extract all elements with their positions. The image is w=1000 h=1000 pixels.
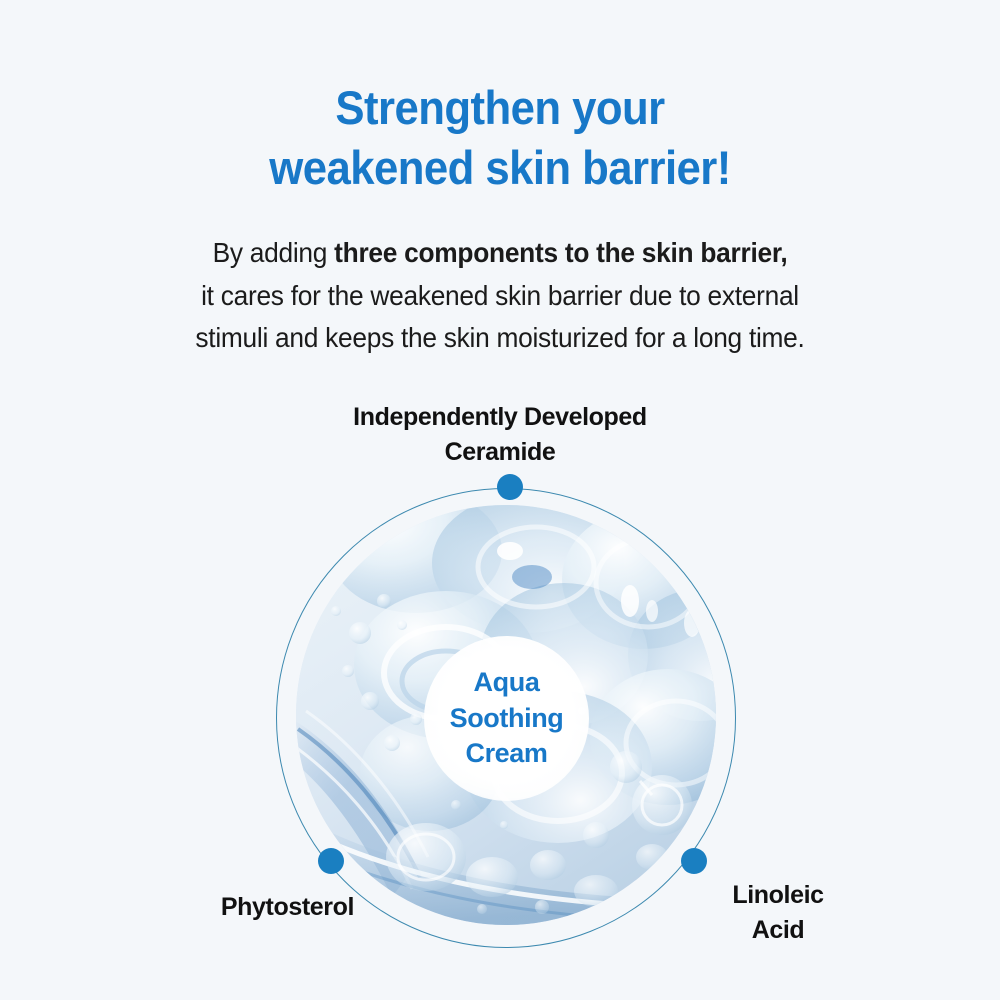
node-label-phytosterol: Phytosterol xyxy=(0,890,354,925)
ingredient-diagram: Aqua Soothing Cream Independently Develo… xyxy=(0,0,1000,1000)
node-dot-ceramide xyxy=(497,474,523,500)
skincare-infographic: Strengthen your weakened skin barrier! B… xyxy=(0,0,1000,1000)
product-name-line-3: Cream xyxy=(465,736,547,772)
node-label-linoleic-acid-line-2: Acid xyxy=(678,913,878,948)
node-dot-linoleic-acid xyxy=(681,848,707,874)
node-dot-phytosterol xyxy=(318,848,344,874)
node-label-ceramide: Independently Developed Ceramide xyxy=(0,400,1000,469)
node-label-ceramide-line-2: Ceramide xyxy=(0,435,1000,470)
product-name-line-2: Soothing xyxy=(450,701,564,737)
node-label-phytosterol-line-1: Phytosterol xyxy=(0,890,354,925)
node-label-linoleic-acid: Linoleic Acid xyxy=(678,878,878,947)
node-label-ceramide-line-1: Independently Developed xyxy=(0,400,1000,435)
product-name-badge: Aqua Soothing Cream xyxy=(424,636,589,801)
node-label-linoleic-acid-line-1: Linoleic xyxy=(678,878,878,913)
product-name-line-1: Aqua xyxy=(474,665,540,701)
